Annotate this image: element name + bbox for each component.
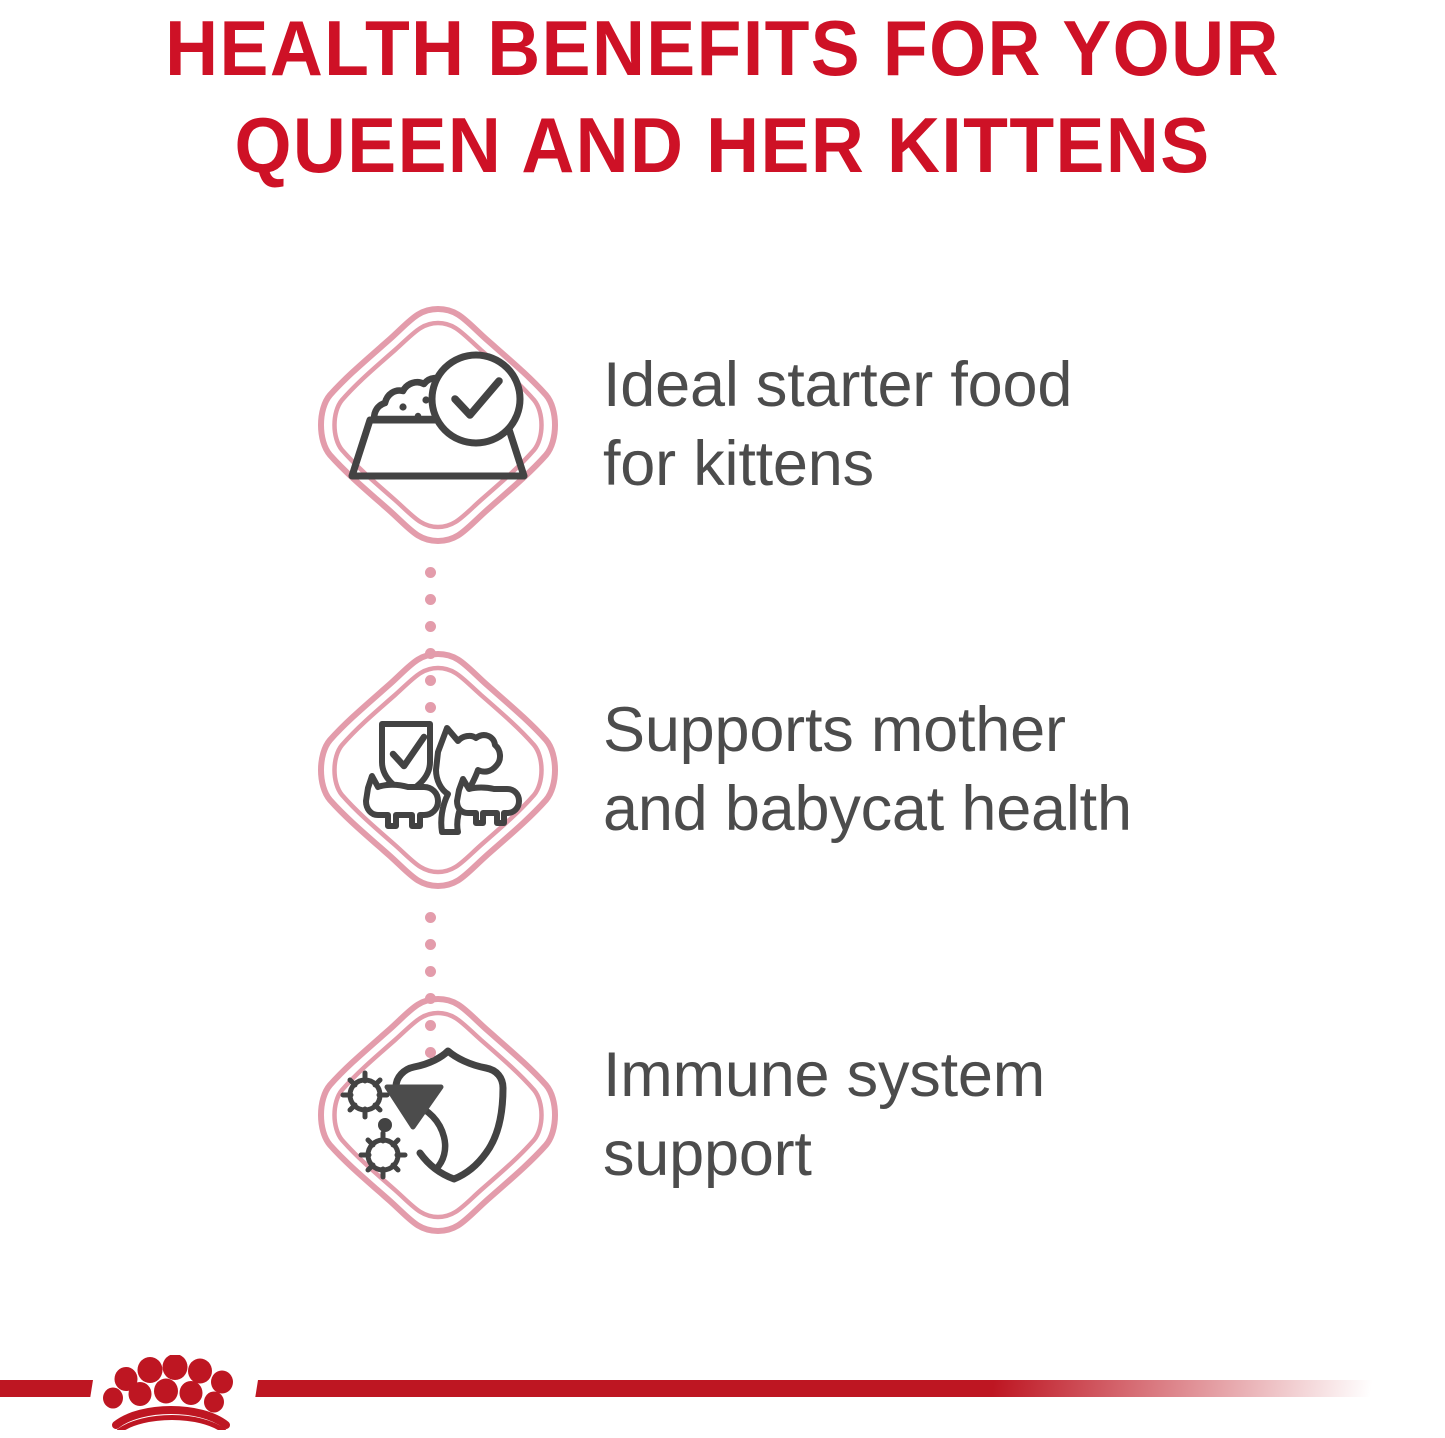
connector-dots-1-2: [423, 567, 437, 713]
benefit-text-3-line-2: support: [603, 1115, 1445, 1194]
connector-dot: [425, 621, 436, 632]
connector-dots-2-3: [423, 912, 437, 1058]
benefit-text-2-line-1: Supports mother: [603, 691, 1445, 770]
benefit-item-2: Supports mother and babycat health: [0, 637, 1445, 902]
page-title-line-2: QUEEN AND HER KITTENS: [43, 97, 1401, 194]
benefits-list: Ideal starter food for kittens Supports …: [0, 282, 1445, 1282]
connector-dot: [425, 702, 436, 713]
shield-germs-immune-icon: [288, 982, 588, 1247]
connector-dot: [425, 912, 436, 923]
food-bowl-check-icon: [288, 292, 588, 557]
connector-dot: [425, 1047, 436, 1058]
benefit-text-3: Immune system support: [588, 1036, 1445, 1194]
footer: [0, 1330, 1445, 1438]
benefit-item-3: Immune system support: [0, 982, 1445, 1247]
benefit-text-3-line-1: Immune system: [603, 1036, 1445, 1115]
page-title: HEALTH BENEFITS FOR YOUR QUEEN AND HER K…: [0, 0, 1445, 194]
connector-dot: [425, 675, 436, 686]
connector-dot: [425, 567, 436, 578]
connector-dot: [425, 1020, 436, 1031]
benefit-text-1-line-1: Ideal starter food: [603, 346, 1445, 425]
benefit-item-1: Ideal starter food for kittens: [0, 292, 1445, 557]
footer-rule-left: [0, 1380, 93, 1397]
benefit-text-2: Supports mother and babycat health: [588, 691, 1445, 849]
benefit-text-1: Ideal starter food for kittens: [588, 346, 1445, 504]
connector-dot: [425, 939, 436, 950]
connector-dot: [425, 966, 436, 977]
royal-canin-crown-logo: [96, 1355, 248, 1430]
shield-mother-cat-kittens-icon: [288, 637, 588, 902]
benefit-text-1-line-2: for kittens: [603, 425, 1445, 504]
connector-dot: [425, 648, 436, 659]
connector-dot: [425, 594, 436, 605]
footer-rule-right: [255, 1380, 1373, 1397]
connector-dot: [425, 993, 436, 1004]
benefit-text-2-line-2: and babycat health: [603, 770, 1445, 849]
page-title-line-1: HEALTH BENEFITS FOR YOUR: [43, 0, 1401, 97]
